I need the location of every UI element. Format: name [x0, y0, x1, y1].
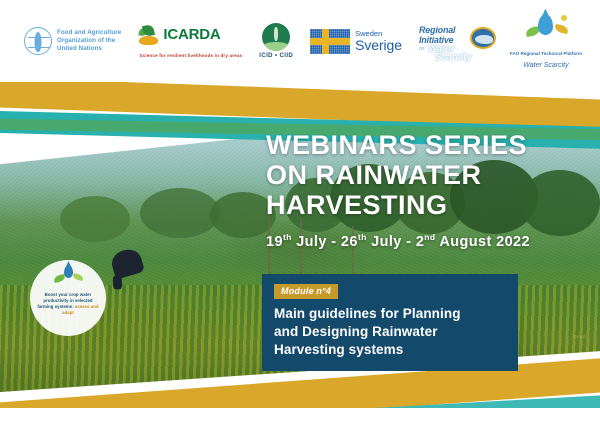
date-2-month: July - [367, 234, 416, 250]
title-line-1: WEBINARS SERIES [266, 130, 596, 160]
icarda-tagline: Science for resilient livelihoods in dry… [138, 53, 242, 58]
banner-title-block: WEBINARS SERIES ON RAINWATER HARVESTING … [266, 130, 596, 250]
fao-logo-text: Food and Agriculture Organization of the… [57, 29, 121, 54]
ri-connector: on [419, 46, 425, 52]
photo-credit: ©FAO [574, 334, 586, 339]
date-2-ordinal: th [358, 232, 367, 242]
icarda-wordmark: ICARDA [163, 27, 220, 42]
logo-icarda: ICARDA Science for resilient livelihoods… [138, 25, 242, 58]
ri-line-4: Scarcity [435, 52, 472, 63]
rtp-line-2: Water Scarcity [523, 62, 568, 69]
ri-line-1: Regional [419, 25, 455, 35]
droplet-leaves-icon [53, 265, 83, 289]
sweden-wordmark: Sweden Sverige [355, 30, 402, 53]
module-badge: Module n°4 [274, 284, 338, 299]
module-title: Main guidelines for Planning and Designi… [274, 305, 506, 359]
fao-line-3: United Nations [57, 45, 121, 53]
logo-icid: ICID • CIID [259, 23, 293, 59]
title-line-2: ON RAINWATER [266, 160, 596, 190]
water-droplet-leaves-icon [523, 14, 569, 46]
logo-regional-initiative: Regional Initiative on Water Scarcity [419, 21, 493, 61]
date-1-ordinal: th [283, 232, 292, 242]
partner-logo-bar: Food and Agriculture Organization of the… [0, 0, 600, 82]
logo-fao: Food and Agriculture Organization of the… [24, 27, 121, 55]
date-1-month: July - [292, 234, 341, 250]
date-3-ordinal: nd [424, 232, 435, 242]
module-title-line-1: Main guidelines for Planning [274, 305, 506, 323]
icarda-leaf-grain-icon [138, 25, 160, 45]
seal-text: Boost your crop water productivity in se… [30, 289, 106, 316]
date-1-day: 19 [266, 234, 283, 250]
water-globe-icon [470, 27, 496, 49]
date-3-day: 2 [416, 234, 424, 250]
sweden-line-en: Sweden [355, 30, 402, 38]
module-title-line-2: and Designing Rainwater [274, 323, 506, 341]
icarda-lockup: ICARDA [138, 25, 220, 45]
webinar-banner: WEBINARS SERIES ON RAINWATER HARVESTING … [0, 82, 600, 424]
campaign-seal: Boost your crop water productivity in se… [30, 260, 106, 336]
fao-emblem-icon [24, 27, 52, 55]
module-card: Module n°4 Main guidelines for Planning … [262, 274, 518, 371]
tree-silhouette [60, 196, 130, 242]
logo-regional-technical-platform: FAO Regional Technical Platform Water Sc… [510, 14, 582, 69]
bottom-white-strip [0, 408, 600, 424]
rtp-line-1: FAO Regional Technical Platform [510, 51, 582, 56]
module-title-line-3: Harvesting systems [274, 341, 506, 359]
icid-wordmark: ICID • CIID [259, 53, 293, 59]
fao-line-2: Organization of the [57, 37, 121, 45]
fao-line-1: Food and Agriculture [57, 29, 121, 37]
icid-globe-wheat-icon [262, 23, 290, 51]
logo-sweden: Sweden Sverige [310, 29, 402, 54]
sweden-line-sv: Sverige [355, 38, 402, 52]
title-line-3: HARVESTING [266, 190, 596, 220]
date-2-day: 26 [341, 234, 358, 250]
date-3-month: August 2022 [435, 234, 530, 250]
tree-silhouette [140, 188, 220, 238]
webinar-dates: 19th July - 26th July - 2nd August 2022 [266, 232, 596, 250]
sweden-flag-icon [310, 29, 350, 54]
page-title: WEBINARS SERIES ON RAINWATER HARVESTING [266, 130, 596, 221]
